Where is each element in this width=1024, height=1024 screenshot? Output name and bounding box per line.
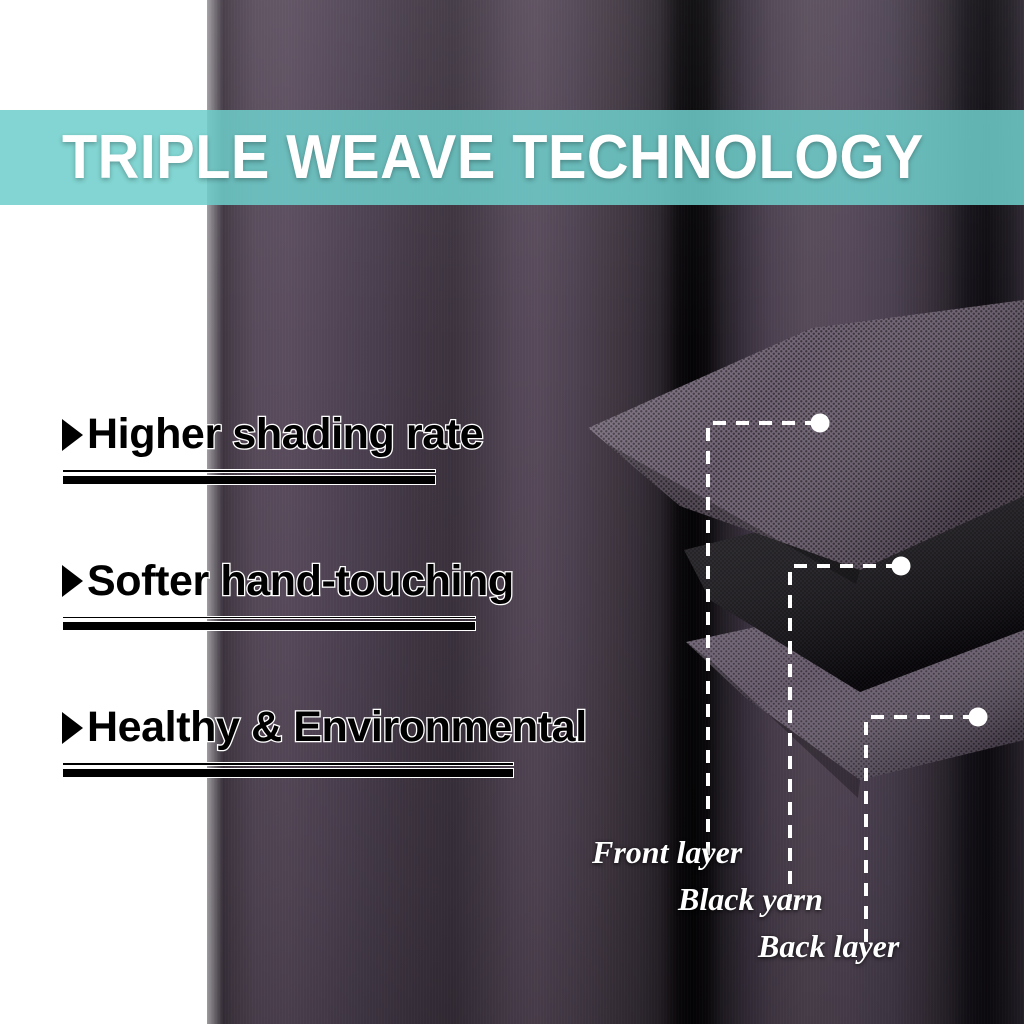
headline-title: TRIPLE WEAVE TECHNOLOGY xyxy=(62,127,924,189)
feature-underline xyxy=(62,616,476,632)
fabric-layer-diagram xyxy=(560,300,1024,860)
headline-banner: TRIPLE WEAVE TECHNOLOGY xyxy=(0,110,1024,205)
feature-item: Softer hand-touching xyxy=(62,559,582,632)
underline-thin-rule xyxy=(62,762,514,766)
underline-thick-rule xyxy=(62,475,436,485)
underline-thin-rule xyxy=(62,469,436,473)
feature-label: Healthy & Environmental xyxy=(87,705,587,750)
underline-thick-rule xyxy=(62,621,476,631)
feature-list: Higher shading rate Softer hand-touching… xyxy=(62,412,582,852)
triangle-bullet-icon xyxy=(62,712,83,744)
feature-underline xyxy=(62,469,436,485)
underline-thick-rule xyxy=(62,768,514,778)
feature-underline xyxy=(62,762,514,778)
underline-thin-rule xyxy=(62,616,476,620)
feature-label: Softer hand-touching xyxy=(87,559,514,604)
triangle-bullet-icon xyxy=(62,565,83,597)
layer-label-black-yarn: Black yarn xyxy=(678,883,823,915)
feature-item: Higher shading rate xyxy=(62,412,582,485)
triangle-bullet-icon xyxy=(62,419,83,451)
feature-label: Higher shading rate xyxy=(87,412,483,457)
product-infographic: Front layer Black yarn Back layer TRIPLE… xyxy=(0,0,1024,1024)
layer-label-back-layer: Back layer xyxy=(758,930,899,962)
feature-item: Healthy & Environmental xyxy=(62,705,582,778)
layer-label-front-layer: Front layer xyxy=(592,836,742,868)
